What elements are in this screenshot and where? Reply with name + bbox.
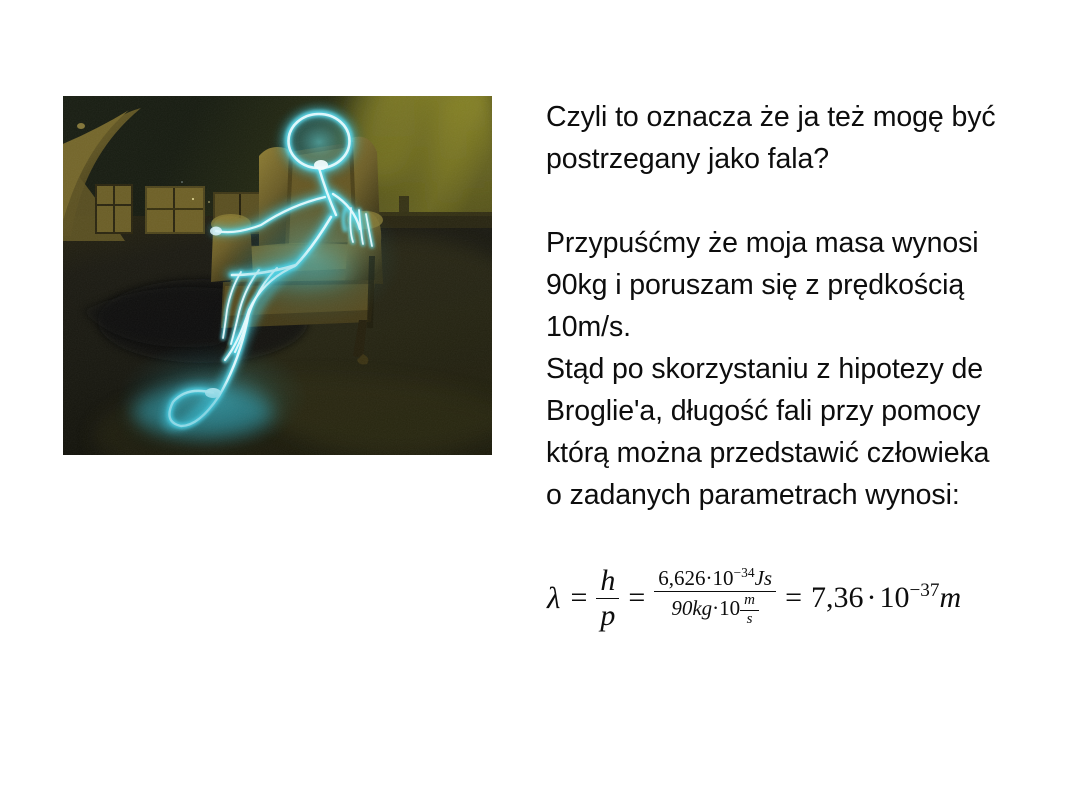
- text-line: którą można przedstawić człowieka: [546, 437, 989, 469]
- planck-mantissa: 6,626: [658, 566, 705, 590]
- lambda-symbol: λ: [546, 580, 561, 616]
- photo-canvas: [63, 96, 492, 455]
- multiplication-dot: ·: [706, 566, 713, 590]
- de-broglie-formula: λ = h p = 6,626·10−34Js 90kg·10 m s = 7,…: [546, 556, 961, 640]
- text-line: 10m/s.: [546, 311, 631, 343]
- power-base: 10: [713, 566, 734, 590]
- equals-sign-3: =: [776, 581, 811, 615]
- text-line: Broglie'a, długość fali przy pomocy: [546, 395, 980, 427]
- fraction-numerator: 6,626·10−34Js: [654, 568, 776, 592]
- text-line: Stąd po skorzystaniu z hipotezy de: [546, 353, 983, 385]
- mass-value: 90kg: [671, 596, 712, 620]
- result-base: 10: [879, 581, 909, 614]
- fraction-numerator: m: [740, 593, 759, 611]
- paragraph-question: Czyli to oznacza że ja też mogę być post…: [546, 96, 1066, 180]
- result-exponent: −37: [909, 580, 939, 601]
- fraction-h-over-p: h p: [596, 565, 619, 630]
- slide-body-text: Czyli to oznacza że ja też mogę być post…: [546, 96, 1066, 516]
- speed-value: 10: [719, 596, 740, 620]
- unit-joule-second: Js: [755, 566, 773, 590]
- unit-metre: m: [940, 581, 962, 614]
- paragraph-calculation: Przypuśćmy że moja masa wynosi 90kg i po…: [546, 222, 1066, 516]
- distant-post: [399, 196, 409, 212]
- equals-sign-1: =: [561, 581, 596, 615]
- text-line: Czyli to oznacza że ja też mogę być: [546, 101, 996, 133]
- equals-sign-2: =: [619, 581, 654, 615]
- power-exponent: −34: [734, 565, 755, 580]
- multiplication-dot: ·: [863, 581, 879, 614]
- fraction-denominator: 90kg·10 m s: [667, 592, 763, 627]
- fraction-denominator: s: [743, 611, 757, 628]
- fraction-values: 6,626·10−34Js 90kg·10 m s: [654, 568, 776, 627]
- fraction-numerator: h: [596, 565, 619, 598]
- result-mantissa: 7,36: [811, 581, 864, 614]
- text-line: postrzegany jako fala?: [546, 143, 829, 175]
- paragraph-spacer: [546, 180, 1066, 222]
- text-line: o zadanych parametrach wynosi:: [546, 479, 960, 511]
- text-line: 90kg i poruszam się z prędkością: [546, 269, 964, 301]
- fraction-denominator: p: [596, 599, 619, 631]
- text-line: Przypuśćmy że moja masa wynosi: [546, 227, 979, 259]
- fraction-metres-per-second: m s: [740, 593, 759, 627]
- result-value: 7,36·10−37m: [811, 581, 961, 615]
- light-painting-photo: [63, 96, 492, 455]
